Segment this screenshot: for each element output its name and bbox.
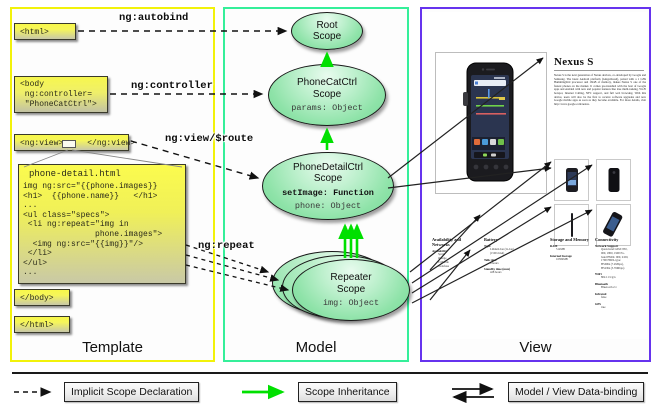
spec-value-1-1-0: 6 hours bbox=[484, 262, 542, 266]
spec-value-3-1-0: 802.11 b/g/n bbox=[595, 276, 645, 280]
spec-column-3: Connectivity Network Support Quad-band G… bbox=[595, 237, 645, 309]
callout-title: phone-detail.html bbox=[19, 165, 185, 182]
view-title-divider bbox=[554, 70, 644, 71]
scope-phonecatctrl-prop-params: params: Object bbox=[291, 103, 362, 113]
spec-value-0-0-3: Vodafone bbox=[432, 265, 476, 269]
label-ng-view-route: ng:view/$route bbox=[165, 133, 253, 145]
view-product-title: Nexus S bbox=[554, 56, 594, 68]
callout-phone-detail-html: phone-detail.html img ng:src="{{phone.im… bbox=[18, 164, 186, 284]
legend-divider bbox=[12, 372, 648, 374]
scope-phonedetailctrl: PhoneDetailCtrl Scope setImage: Function… bbox=[262, 152, 394, 220]
legend-dashed-arrow-icon bbox=[12, 382, 60, 402]
scope-phonecatctrl: PhoneCatCtrl Scope params: Object bbox=[268, 64, 386, 126]
label-ng-controller: ng:controller bbox=[131, 80, 213, 92]
legend-label-implicit-scope-declaration: Implicit Scope Declaration bbox=[64, 382, 199, 402]
column-label-template: Template bbox=[12, 339, 213, 356]
spec-header-1: Battery bbox=[484, 237, 542, 242]
legend-label-scope-inheritance: Scope Inheritance bbox=[298, 382, 397, 402]
code-box-html-close: </html> bbox=[14, 316, 70, 333]
spec-value-3-3-0: false bbox=[595, 296, 645, 300]
view-thumbnail-0[interactable] bbox=[554, 159, 589, 201]
phone-front-icon bbox=[565, 167, 579, 193]
column-label-model: Model bbox=[225, 339, 407, 356]
phone-hero-image-frame bbox=[435, 52, 547, 194]
scope-repeater-line1: Repeater bbox=[330, 272, 371, 284]
code-box-body-open: <body ng:controller= "PhoneCatCtrl"> bbox=[14, 76, 108, 113]
scope-phonedetailctrl-prop-setimage: setImage: Function bbox=[282, 188, 374, 198]
spec-header-0: Availability and Networks bbox=[432, 237, 476, 247]
spec-value-3-2-0: Bluetooth 2.1 bbox=[595, 286, 645, 290]
legend-item-data-binding: Model / View Data-binding bbox=[450, 382, 504, 404]
code-box-body-close: </body> bbox=[14, 289, 70, 306]
legend-double-arrow-icon bbox=[450, 382, 504, 404]
scope-repeater-line2: Scope bbox=[337, 284, 365, 296]
spec-value-3-4-0: true bbox=[595, 306, 645, 310]
label-ng-autobind: ng:autobind bbox=[119, 12, 188, 24]
spec-value-1-2-0: 428 hours bbox=[484, 271, 542, 275]
spec-column-1: Battery Type Lithium Ion (Li-Ion) (1500 … bbox=[484, 237, 542, 275]
view-product-description: Nexus S is the next generation of Nexus … bbox=[554, 74, 646, 106]
scope-root-line1: Root bbox=[316, 20, 337, 32]
scope-phonecatctrl-line1: PhoneCatCtrl bbox=[297, 77, 357, 89]
code-box-html-open: <html> bbox=[14, 23, 76, 40]
legend-label-data-binding: Model / View Data-binding bbox=[508, 382, 644, 402]
label-ng-repeat: ng:repeat bbox=[198, 240, 255, 252]
phone-angled-icon bbox=[603, 212, 625, 238]
column-label-view: View bbox=[422, 339, 649, 356]
scope-repeater-prop-img: img: Object bbox=[323, 298, 379, 308]
legend-item-scope-inheritance: Scope Inheritance bbox=[240, 382, 294, 404]
scope-phonecatctrl-line2: Scope bbox=[313, 89, 341, 101]
callout-code: img ng:src="{{phone.images}} <h1> {{phon… bbox=[19, 182, 185, 278]
diagram-canvas: Template Model View <html> <body ng:cont… bbox=[0, 0, 660, 420]
scope-phonedetailctrl-prop-phone: phone: Object bbox=[295, 201, 361, 211]
scope-root: Root Scope bbox=[291, 12, 363, 50]
spec-column-0: Availability and Networks Availability S… bbox=[432, 237, 476, 268]
scope-phonedetailctrl-line1: PhoneDetailCtrl bbox=[293, 162, 363, 174]
scope-repeater: Repeater Scope img: Object bbox=[292, 259, 410, 321]
spec-value-1-0-1: (1500 mAh) bbox=[484, 252, 542, 256]
legend-item-implicit-scope-declaration: Implicit Scope Declaration bbox=[12, 382, 60, 404]
phone-edge-icon bbox=[568, 212, 576, 238]
phone-back-icon bbox=[607, 167, 620, 193]
spec-value-3-0-5: HSUPA (5.76Mbps) bbox=[595, 267, 645, 271]
spec-header-3: Connectivity bbox=[595, 237, 645, 242]
legend-green-arrow-icon bbox=[240, 382, 294, 402]
scope-phonedetailctrl-line2: Scope bbox=[314, 173, 342, 185]
ng-view-slot-icon bbox=[62, 140, 76, 148]
scope-root-line2: Scope bbox=[313, 31, 341, 43]
legend: Implicit Scope Declaration Scope Inherit… bbox=[0, 372, 660, 420]
phone-hero-icon bbox=[436, 53, 544, 191]
view-thumbnail-1[interactable] bbox=[596, 159, 631, 201]
view-rendered-page: Nexus S Nexus S is the next generation o… bbox=[424, 12, 647, 339]
